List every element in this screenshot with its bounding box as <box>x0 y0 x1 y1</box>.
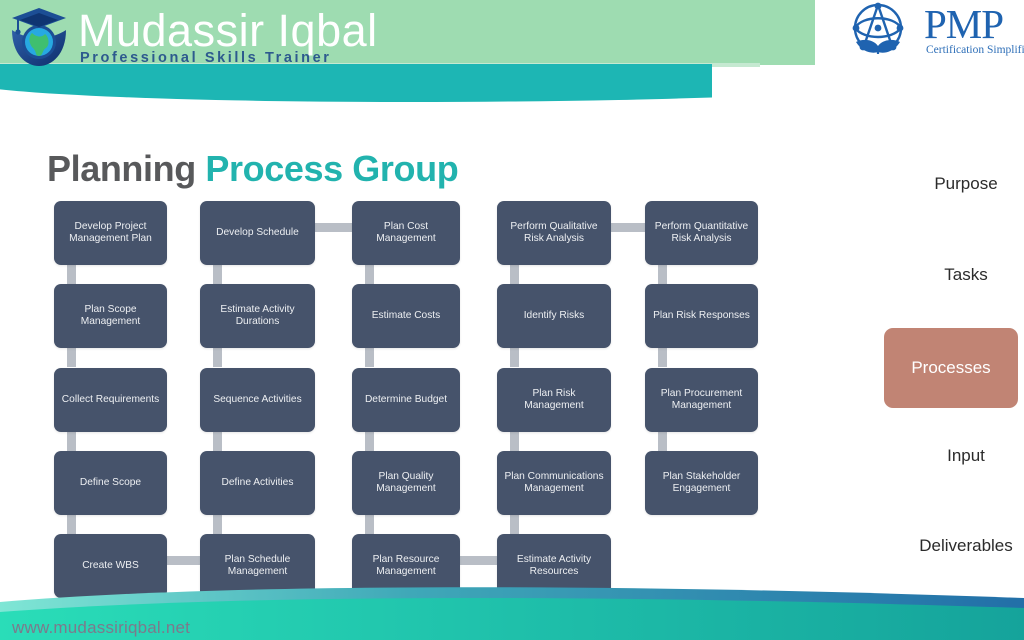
process-box-label: Estimate Activity Resources <box>503 554 605 579</box>
process-box-label: Plan Risk Responses <box>653 310 750 323</box>
connector-vertical <box>365 432 374 451</box>
process-box[interactable]: Define Scope <box>54 451 167 515</box>
connector-vertical <box>658 265 667 284</box>
sidebar-item-processes[interactable]: Processes <box>884 328 1018 408</box>
connector-vertical <box>510 515 519 534</box>
process-box-label: Collect Requirements <box>62 394 159 407</box>
connector-vertical <box>365 515 374 534</box>
connector-horizontal <box>611 223 645 232</box>
footer-wave: www.mudassiriqbal.net <box>0 578 1024 640</box>
connector-vertical <box>213 432 222 451</box>
connector-vertical <box>67 515 76 534</box>
process-box-label: Develop Project Management Plan <box>60 221 161 246</box>
process-box[interactable]: Develop Project Management Plan <box>54 201 167 265</box>
sidebar-item-label: Processes <box>911 358 990 378</box>
process-box[interactable]: Plan Stakeholder Engagement <box>645 451 758 515</box>
sidebar-item-purpose[interactable]: Purpose <box>884 174 1024 194</box>
connector-vertical <box>658 432 667 451</box>
connector-horizontal <box>460 556 497 565</box>
process-box-label: Plan Communications Management <box>503 471 605 496</box>
process-box-label: Plan Resource Management <box>358 554 454 579</box>
process-box[interactable]: Plan Communications Management <box>497 451 611 515</box>
connector-vertical <box>510 432 519 451</box>
process-box[interactable]: Perform Quantitative Risk Analysis <box>645 201 758 265</box>
process-box-label: Plan Cost Management <box>358 221 454 246</box>
connector-vertical <box>213 265 222 284</box>
slide-canvas: Mudassir Iqbal Professional Skills Train… <box>0 0 1024 640</box>
sidebar-item-deliverables[interactable]: Deliverables <box>884 536 1024 556</box>
process-box-label: Create WBS <box>82 560 139 573</box>
connector-vertical <box>213 348 222 367</box>
process-box-label: Estimate Costs <box>372 310 441 323</box>
connector-vertical <box>67 348 76 367</box>
process-box-label: Identify Risks <box>524 310 585 323</box>
process-box[interactable]: Plan Cost Management <box>352 201 460 265</box>
process-box[interactable]: Plan Scope Management <box>54 284 167 348</box>
process-box[interactable]: Estimate Costs <box>352 284 460 348</box>
process-box[interactable]: Sequence Activities <box>200 368 315 432</box>
process-box[interactable]: Determine Budget <box>352 368 460 432</box>
process-box[interactable]: Develop Schedule <box>200 201 315 265</box>
process-box-label: Estimate Activity Durations <box>206 304 309 329</box>
connector-vertical <box>510 348 519 367</box>
process-box[interactable]: Plan Procurement Management <box>645 368 758 432</box>
process-box[interactable]: Define Activities <box>200 451 315 515</box>
connector-vertical <box>67 265 76 284</box>
footer-url: www.mudassiriqbal.net <box>12 618 190 638</box>
process-box-label: Define Scope <box>80 477 141 490</box>
process-box-label: Plan Quality Management <box>358 471 454 496</box>
connector-vertical <box>365 348 374 367</box>
connector-horizontal <box>315 223 352 232</box>
process-box-label: Perform Quantitative Risk Analysis <box>651 221 752 246</box>
process-box[interactable]: Collect Requirements <box>54 368 167 432</box>
sidebar-item-input[interactable]: Input <box>884 446 1024 466</box>
planning-process-flow-diagram: Develop Project Management PlanPlan Scop… <box>0 0 1024 640</box>
process-box-label: Perform Qualitative Risk Analysis <box>503 221 605 246</box>
process-box[interactable]: Plan Risk Management <box>497 368 611 432</box>
process-box-label: Define Activities <box>222 477 294 490</box>
process-box[interactable]: Plan Risk Responses <box>645 284 758 348</box>
process-box[interactable]: Perform Qualitative Risk Analysis <box>497 201 611 265</box>
connector-vertical <box>213 515 222 534</box>
process-box[interactable]: Plan Quality Management <box>352 451 460 515</box>
process-box-label: Develop Schedule <box>216 227 299 240</box>
connector-vertical <box>365 265 374 284</box>
sidebar-item-tasks[interactable]: Tasks <box>884 265 1024 285</box>
process-box-label: Sequence Activities <box>213 394 301 407</box>
connector-vertical <box>658 348 667 367</box>
process-box-label: Plan Schedule Management <box>206 554 309 579</box>
connector-horizontal <box>167 556 200 565</box>
connector-vertical <box>67 432 76 451</box>
process-box-label: Plan Scope Management <box>60 304 161 329</box>
process-box-label: Plan Procurement Management <box>651 388 752 413</box>
process-box-label: Plan Risk Management <box>503 388 605 413</box>
connector-vertical <box>510 265 519 284</box>
process-box[interactable]: Identify Risks <box>497 284 611 348</box>
process-box[interactable]: Estimate Activity Durations <box>200 284 315 348</box>
process-box-label: Plan Stakeholder Engagement <box>651 471 752 496</box>
process-box-label: Determine Budget <box>365 394 447 407</box>
